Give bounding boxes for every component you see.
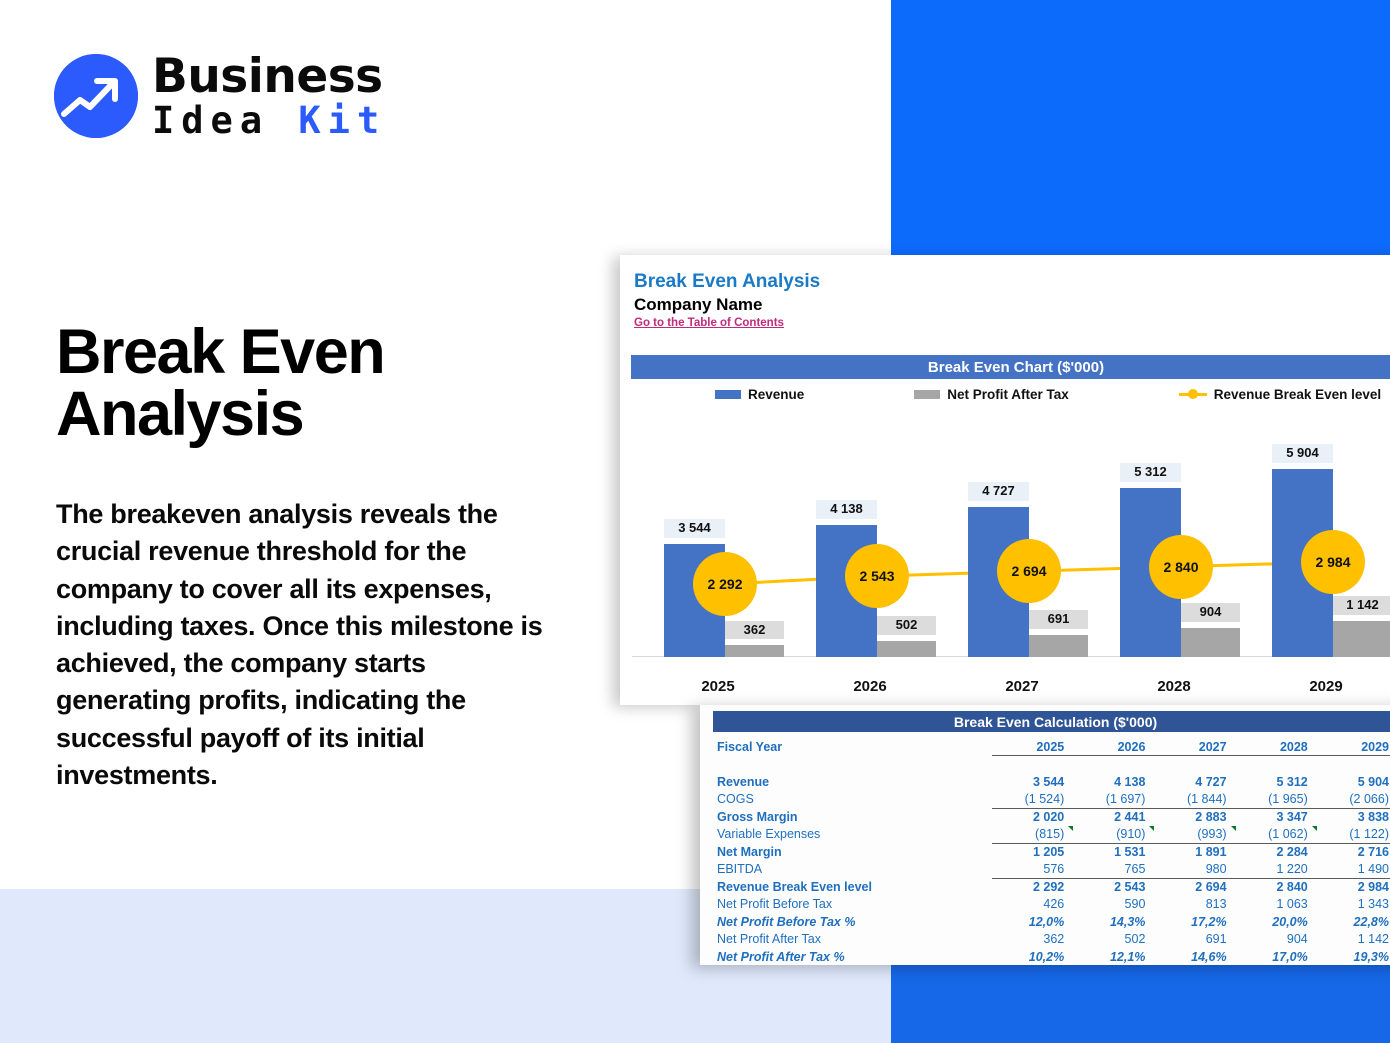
sheet-title: Break Even Analysis	[634, 271, 820, 293]
table-row: Net Margin1 2051 5311 8912 2842 716	[713, 843, 1390, 861]
table-cell[interactable]: 904	[1236, 931, 1317, 949]
data-label-revenue: 3 544	[664, 519, 725, 538]
chart-axis-label-year: 2026	[794, 678, 946, 695]
table-row-label: Net Profit After Tax %	[713, 948, 992, 966]
data-label-net-profit-after-tax: 691	[1029, 610, 1088, 629]
chart-axis-label-year: 2027	[946, 678, 1098, 695]
legend-swatch-revenue-icon	[715, 390, 741, 399]
table-spacer-row	[713, 756, 1390, 774]
page-description: The breakeven analysis reveals the cruci…	[56, 496, 546, 794]
table-cell[interactable]: 20,0%	[1236, 913, 1317, 931]
table-cell[interactable]: 1 490	[1317, 861, 1390, 879]
table-row-label: Variable Expenses	[713, 826, 992, 844]
table-cell[interactable]: 10,2%	[992, 948, 1073, 966]
table-cell[interactable]: (1 965)	[1236, 791, 1317, 809]
table-cell[interactable]: 4 138	[1073, 773, 1154, 791]
table-row-label: EBITDA	[713, 861, 992, 879]
table-cell[interactable]: 1 142	[1317, 931, 1390, 949]
legend-label-npat: Net Profit After Tax	[947, 387, 1069, 402]
table-cell[interactable]: (910)	[1073, 826, 1154, 844]
chart-legend: Revenue Net Profit After Tax Revenue Bre…	[631, 383, 1390, 405]
table-cell[interactable]: (1 697)	[1073, 791, 1154, 809]
bar-net-profit-after-tax[interactable]	[1333, 621, 1390, 657]
table-row-label: Gross Margin	[713, 808, 992, 826]
table-row: Revenue3 5444 1384 7275 3125 904	[713, 773, 1390, 791]
table-row-label: Net Profit Before Tax	[713, 896, 992, 914]
chart-axis-label-year: 2029	[1250, 678, 1390, 695]
table-row: COGS(1 524)(1 697)(1 844)(1 965)(2 066)	[713, 791, 1390, 809]
table-column-header: 2028	[1236, 738, 1317, 756]
table-cell[interactable]: 1 220	[1236, 861, 1317, 879]
break-even-calculation-table: Fiscal Year20252026202720282029Revenue3 …	[713, 738, 1390, 966]
table-cell[interactable]: 4 727	[1154, 773, 1235, 791]
table-cell[interactable]: 14,6%	[1154, 948, 1235, 966]
table-row: Net Profit Before Tax %12,0%14,3%17,2%20…	[713, 913, 1390, 931]
break-even-level-marker[interactable]: 2 543	[845, 544, 909, 608]
legend-item-net-profit-after-tax[interactable]: Net Profit After Tax	[914, 387, 1069, 402]
break-even-level-marker[interactable]: 2 694	[997, 539, 1061, 603]
data-label-revenue: 4 138	[816, 500, 877, 519]
table-cell[interactable]: 590	[1073, 896, 1154, 914]
table-cell[interactable]: 426	[992, 896, 1073, 914]
table-row-label: Net Margin	[713, 843, 992, 861]
table-cell[interactable]: 2 716	[1317, 843, 1390, 861]
data-label-net-profit-after-tax: 502	[877, 616, 936, 635]
chart-header-bar: Break Even Chart ($'000)	[631, 355, 1390, 379]
table-cell[interactable]: 5 312	[1236, 773, 1317, 791]
table-cell[interactable]: 2 292	[992, 878, 1073, 896]
bar-net-profit-after-tax[interactable]	[1029, 635, 1088, 657]
table-cell[interactable]: 576	[992, 861, 1073, 879]
chart-plot-area: 3 5443624 1385024 7276915 3129045 9041 1…	[620, 410, 1390, 705]
table-row: Net Profit After Tax %10,2%12,1%14,6%17,…	[713, 948, 1390, 966]
break-even-level-marker[interactable]: 2 984	[1301, 530, 1365, 594]
table-cell[interactable]: 813	[1154, 896, 1235, 914]
table-cell[interactable]: 14,3%	[1073, 913, 1154, 931]
table-cell[interactable]: 2 020	[992, 808, 1073, 826]
table-cell[interactable]: 3 838	[1317, 808, 1390, 826]
table-cell[interactable]: (1 524)	[992, 791, 1073, 809]
table-cell[interactable]: 2 543	[1073, 878, 1154, 896]
table-column-header: 2026	[1073, 738, 1154, 756]
table-row: Variable Expenses(815)(910)(993)(1 062)(…	[713, 826, 1390, 844]
break-even-level-marker[interactable]: 2 840	[1149, 535, 1213, 599]
chart-axis-label-year: 2028	[1098, 678, 1250, 695]
table-cell[interactable]: 17,0%	[1236, 948, 1317, 966]
legend-swatch-npat-icon	[914, 390, 940, 399]
data-label-net-profit-after-tax: 1 142	[1333, 596, 1390, 615]
legend-item-revenue-break-even-level[interactable]: Revenue Break Even level	[1179, 387, 1381, 402]
table-cell[interactable]: 1 205	[992, 843, 1073, 861]
data-label-revenue: 4 727	[968, 482, 1029, 501]
table-column-header: 2025	[992, 738, 1073, 756]
break-even-calculation-panel: Break Even Calculation ($'000) Fiscal Ye…	[700, 705, 1390, 965]
table-row-label: COGS	[713, 791, 992, 809]
background-block-bottom-right	[891, 963, 1390, 1043]
table-cell[interactable]: (1 122)	[1317, 826, 1390, 844]
table-cell[interactable]: 17,2%	[1154, 913, 1235, 931]
table-cell[interactable]: 22,8%	[1317, 913, 1390, 931]
table-cell[interactable]: 2 883	[1154, 808, 1235, 826]
chart-axis-label-year: 2025	[642, 678, 794, 695]
bar-net-profit-after-tax[interactable]	[1181, 628, 1240, 657]
table-cell[interactable]: 2 441	[1073, 808, 1154, 826]
table-cell[interactable]: (2 066)	[1317, 791, 1390, 809]
legend-label-revenue: Revenue	[748, 387, 804, 402]
table-row-label: Net Profit Before Tax %	[713, 913, 992, 931]
table-cell[interactable]: 980	[1154, 861, 1235, 879]
background-block-top-right	[891, 0, 1390, 261]
table-cell[interactable]: 691	[1154, 931, 1235, 949]
table-row-label: Revenue Break Even level	[713, 878, 992, 896]
table-of-contents-link[interactable]: Go to the Table of Contents	[634, 317, 784, 329]
table-column-header: 2029	[1317, 738, 1390, 756]
data-label-revenue: 5 904	[1272, 444, 1333, 463]
table-row: EBITDA5767659801 2201 490	[713, 861, 1390, 879]
brand-logo: Business Idea Kit	[54, 53, 386, 139]
table-cell[interactable]: (1 844)	[1154, 791, 1235, 809]
data-label-revenue: 5 312	[1120, 463, 1181, 482]
table-cell[interactable]: 1 891	[1154, 843, 1235, 861]
table-cell[interactable]: 3 347	[1236, 808, 1317, 826]
table-cell[interactable]: 5 904	[1317, 773, 1390, 791]
table-cell[interactable]: 1 063	[1236, 896, 1317, 914]
company-name: Company Name	[634, 295, 762, 315]
table-row: Net Profit Before Tax4265908131 0631 343	[713, 896, 1390, 914]
table-cell[interactable]: 12,0%	[992, 913, 1073, 931]
logo-word-kit: Kit	[298, 99, 386, 142]
table-row-label-header: Fiscal Year	[713, 738, 992, 756]
bar-net-profit-after-tax[interactable]	[877, 641, 936, 657]
legend-item-revenue[interactable]: Revenue	[715, 387, 804, 402]
table-cell[interactable]: 1 343	[1317, 896, 1390, 914]
table-cell[interactable]: 19,3%	[1317, 948, 1390, 966]
break-even-level-marker[interactable]: 2 292	[693, 552, 757, 616]
data-label-net-profit-after-tax: 904	[1181, 603, 1240, 622]
table-cell[interactable]: 765	[1073, 861, 1154, 879]
table-row: Revenue Break Even level2 2922 5432 6942…	[713, 878, 1390, 896]
table-row: Net Profit After Tax3625026919041 142	[713, 931, 1390, 949]
table-cell[interactable]: (993)	[1154, 826, 1235, 844]
table-cell[interactable]: 12,1%	[1073, 948, 1154, 966]
table-header-row: Fiscal Year20252026202720282029	[713, 738, 1390, 756]
table-cell[interactable]: 502	[1073, 931, 1154, 949]
table-header-bar: Break Even Calculation ($'000)	[713, 711, 1390, 732]
data-label-net-profit-after-tax: 362	[725, 621, 784, 640]
table-cell[interactable]: 3 544	[992, 773, 1073, 791]
bar-net-profit-after-tax[interactable]	[725, 645, 784, 657]
table-cell[interactable]: 362	[992, 931, 1073, 949]
table-cell[interactable]: 1 531	[1073, 843, 1154, 861]
table-cell[interactable]: 2 840	[1236, 878, 1317, 896]
table-row-label: Net Profit After Tax	[713, 931, 992, 949]
break-even-chart-panel: Break Even Analysis Company Name Go to t…	[620, 255, 1390, 705]
table-row: Gross Margin2 0202 4412 8833 3473 838	[713, 808, 1390, 826]
table-row-label: Revenue	[713, 773, 992, 791]
table-cell[interactable]: 2 694	[1154, 878, 1235, 896]
upward-trend-arrow-icon	[54, 54, 138, 138]
legend-label-break-even: Revenue Break Even level	[1214, 387, 1381, 402]
table-cell[interactable]: 2 984	[1317, 878, 1390, 896]
page-title: Break EvenAnalysis	[56, 322, 556, 445]
table-cell[interactable]: (1 062)	[1236, 826, 1317, 844]
table-cell[interactable]: (815)	[992, 826, 1073, 844]
table-column-header: 2027	[1154, 738, 1235, 756]
logo-word-idea: Idea	[152, 99, 269, 142]
legend-line-marker-icon	[1179, 389, 1207, 400]
table-cell[interactable]: 2 284	[1236, 843, 1317, 861]
logo-word-business: Business	[152, 53, 386, 100]
